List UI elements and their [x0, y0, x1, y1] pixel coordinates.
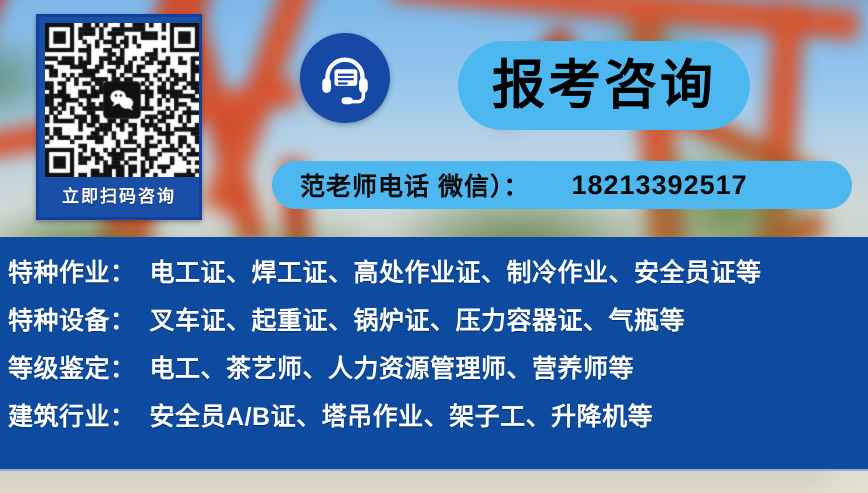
category-row: 建筑行业：安全员A/B证、塔吊作业、架子工、升降机等	[0, 397, 868, 445]
category-label: 特种作业：	[8, 253, 136, 289]
category-row: 等级鉴定：电工、茶艺师、人力资源管理师、营养师等	[0, 349, 868, 397]
category-value: 电工证、焊工证、高处作业证、制冷作业、安全员证等	[150, 253, 762, 289]
category-value: 电工、茶艺师、人力资源管理师、营养师等	[150, 349, 635, 385]
contact-phone-number[interactable]: 18213392517	[571, 170, 747, 201]
qr-card-label: 立即扫码咨询	[45, 177, 193, 217]
qr-card[interactable]: 立即扫码咨询	[36, 14, 202, 220]
category-value: 安全员A/B证、塔吊作业、架子工、升降机等	[150, 397, 654, 433]
title-text: 报考咨询	[492, 59, 716, 112]
category-label: 等级鉴定：	[8, 349, 136, 385]
category-row: 特种作业：电工证、焊工证、高处作业证、制冷作业、安全员证等	[0, 253, 868, 301]
qr-code-canvas	[45, 23, 199, 177]
category-value: 叉车证、起重证、锅炉证、压力容器证、气瓶等	[150, 301, 686, 337]
category-label: 建筑行业：	[8, 397, 136, 433]
contact-phone-pill[interactable]: 范老师电话 微信）： 18213392517	[272, 161, 852, 209]
qr-code-icon[interactable]	[45, 23, 199, 177]
promo-poster: 立即扫码咨询 报考咨询 范老师电话 微信）： 18213392517 特种作业：…	[0, 0, 868, 493]
category-row: 特种设备：叉车证、起重证、锅炉证、压力容器证、气瓶等	[0, 301, 868, 349]
headset-support-icon	[300, 33, 390, 123]
category-label: 特种设备：	[8, 301, 136, 337]
title-pill: 报考咨询	[458, 41, 750, 130]
category-list: 特种作业：电工证、焊工证、高处作业证、制冷作业、安全员证等特种设备：叉车证、起重…	[0, 253, 868, 445]
contact-label: 范老师电话 微信）：	[300, 167, 529, 203]
category-panel: 特种作业：电工证、焊工证、高处作业证、制冷作业、安全员证等特种设备：叉车证、起重…	[0, 237, 868, 471]
